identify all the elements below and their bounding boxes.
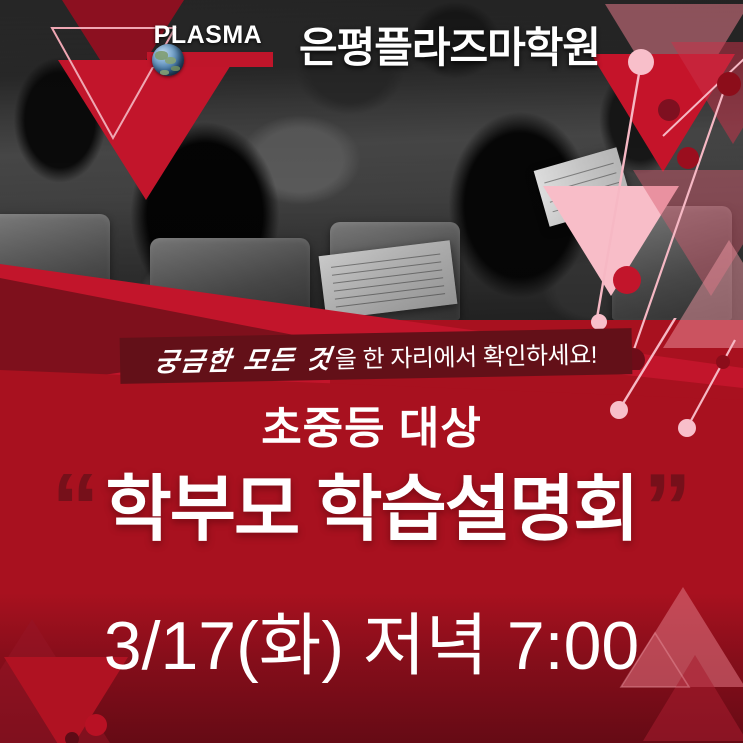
quote-open-icon: “ [52, 460, 100, 556]
subtitle-banner: 궁금한 모든 것 을 한 자리에서 확인하세요! [120, 328, 633, 384]
banner-brush-text: 궁금한 모든 것 [153, 338, 335, 379]
academy-name: 은평플라즈마학원 [299, 27, 600, 69]
page-title: 학부모 학습설명회 [106, 474, 638, 546]
plasma-logo: PLASMA [143, 19, 273, 77]
quote-close-icon: ” [643, 460, 691, 556]
banner-side-dots [583, 318, 743, 438]
banner-plain-text: 을 한 자리에서 확인하세요! [334, 334, 597, 374]
earth-globe-icon [152, 44, 184, 76]
main-title-row: “ 학부모 학습설명회 ” [0, 455, 743, 565]
poster-root: PLASMA 은평플라즈마학원 궁금한 모든 것 을 한 자리에서 확인하세요!… [0, 0, 743, 743]
header-logo-row: PLASMA 은평플라즈마학원 [0, 0, 743, 96]
event-datetime: 3/17(화) 저녁 7:00 [0, 590, 743, 689]
